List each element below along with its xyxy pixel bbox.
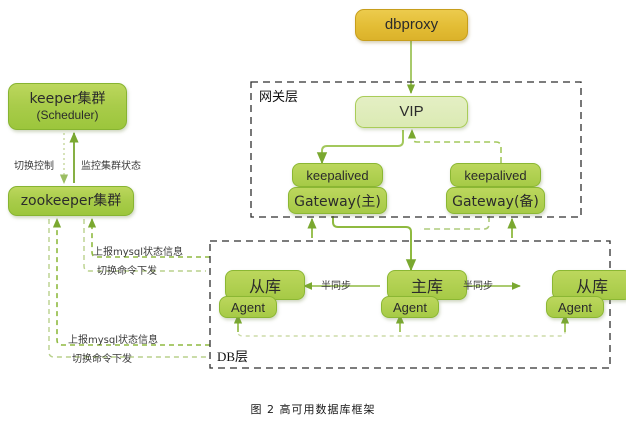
node-keepalived-backup-title-bar[interactable]: keepalived — [450, 163, 541, 187]
edge-label-report-status-top: 上报mysql状态信息 — [93, 243, 183, 258]
node-keeper-label-line2: (Scheduler) — [36, 109, 98, 122]
gateway-layer-label: 网关层 — [259, 86, 298, 105]
edge-gateway-backup-to-db-master — [420, 216, 489, 229]
node-db-slave-left-label: 从库 — [249, 273, 281, 297]
node-db-slave-left-agent-label: Agent — [231, 300, 265, 315]
edge-gateway-master-to-db-master — [333, 216, 411, 270]
node-keepalived-backup-body-bar[interactable]: Gateway(备) — [446, 187, 545, 214]
node-dbproxy-label: dbproxy — [385, 17, 438, 33]
db-layer-label: DB层 — [217, 346, 248, 365]
edge-label-semi-sync-left: 半同步 — [321, 277, 351, 292]
node-keeper-cluster[interactable]: keeper集群 (Scheduler) — [8, 83, 127, 130]
edge-label-switch-command-top: 切换命令下发 — [97, 262, 157, 277]
node-zookeeper-cluster[interactable]: zookeeper集群 — [8, 186, 134, 216]
edge-report-status-lower — [57, 219, 210, 345]
node-vip-label: VIP — [399, 104, 423, 120]
node-db-slave-right-agent[interactable]: Agent — [546, 296, 604, 318]
node-db-slave-right[interactable]: 从库 Agent — [546, 270, 626, 318]
edge-vip-to-keepalived-master — [322, 130, 403, 163]
node-keeper-label-line1: keeper集群 — [29, 92, 105, 107]
node-keepalived-master-title: keepalived — [306, 168, 368, 183]
edge-label-semi-sync-right: 半同步 — [463, 277, 493, 292]
node-keepalived-master[interactable]: keepalived Gateway(主) — [288, 163, 387, 217]
node-keepalived-backup[interactable]: keepalived Gateway(备) — [446, 163, 545, 217]
node-zookeeper-label: zookeeper集群 — [21, 194, 122, 209]
node-db-master[interactable]: 主库 Agent — [381, 270, 467, 318]
node-vip[interactable]: VIP — [355, 96, 468, 128]
node-keepalived-backup-body: Gateway(备) — [452, 191, 539, 211]
node-db-slave-right-label: 从库 — [576, 273, 608, 297]
node-keepalived-backup-title: keepalived — [464, 168, 526, 183]
edge-label-switch-control: 切换控制 — [14, 157, 54, 172]
node-keepalived-master-title-bar[interactable]: keepalived — [292, 163, 383, 187]
node-db-master-agent-label: Agent — [393, 300, 427, 315]
edge-label-switch-command-bottom: 切换命令下发 — [72, 350, 132, 365]
node-db-master-label: 主库 — [411, 273, 443, 297]
node-db-slave-left-agent[interactable]: Agent — [219, 296, 277, 318]
edge-agents-bus — [238, 318, 565, 336]
node-keepalived-master-body: Gateway(主) — [294, 191, 381, 211]
edge-label-report-status-bottom: 上报mysql状态信息 — [68, 331, 158, 346]
node-db-slave-right-agent-label: Agent — [558, 300, 592, 315]
node-dbproxy[interactable]: dbproxy — [355, 9, 468, 41]
node-db-master-agent[interactable]: Agent — [381, 296, 439, 318]
edge-label-monitor-cluster-state: 监控集群状态 — [81, 157, 141, 172]
edge-keepalived-backup-to-vip — [412, 130, 501, 163]
node-db-slave-left[interactable]: 从库 Agent — [219, 270, 305, 318]
node-keepalived-master-body-bar[interactable]: Gateway(主) — [288, 187, 387, 214]
figure-caption: 图 2 高可用数据库框架 — [0, 401, 626, 417]
architecture-diagram: 网关层 DB层 dbproxy VIP keeper集群 (Scheduler)… — [0, 0, 626, 431]
